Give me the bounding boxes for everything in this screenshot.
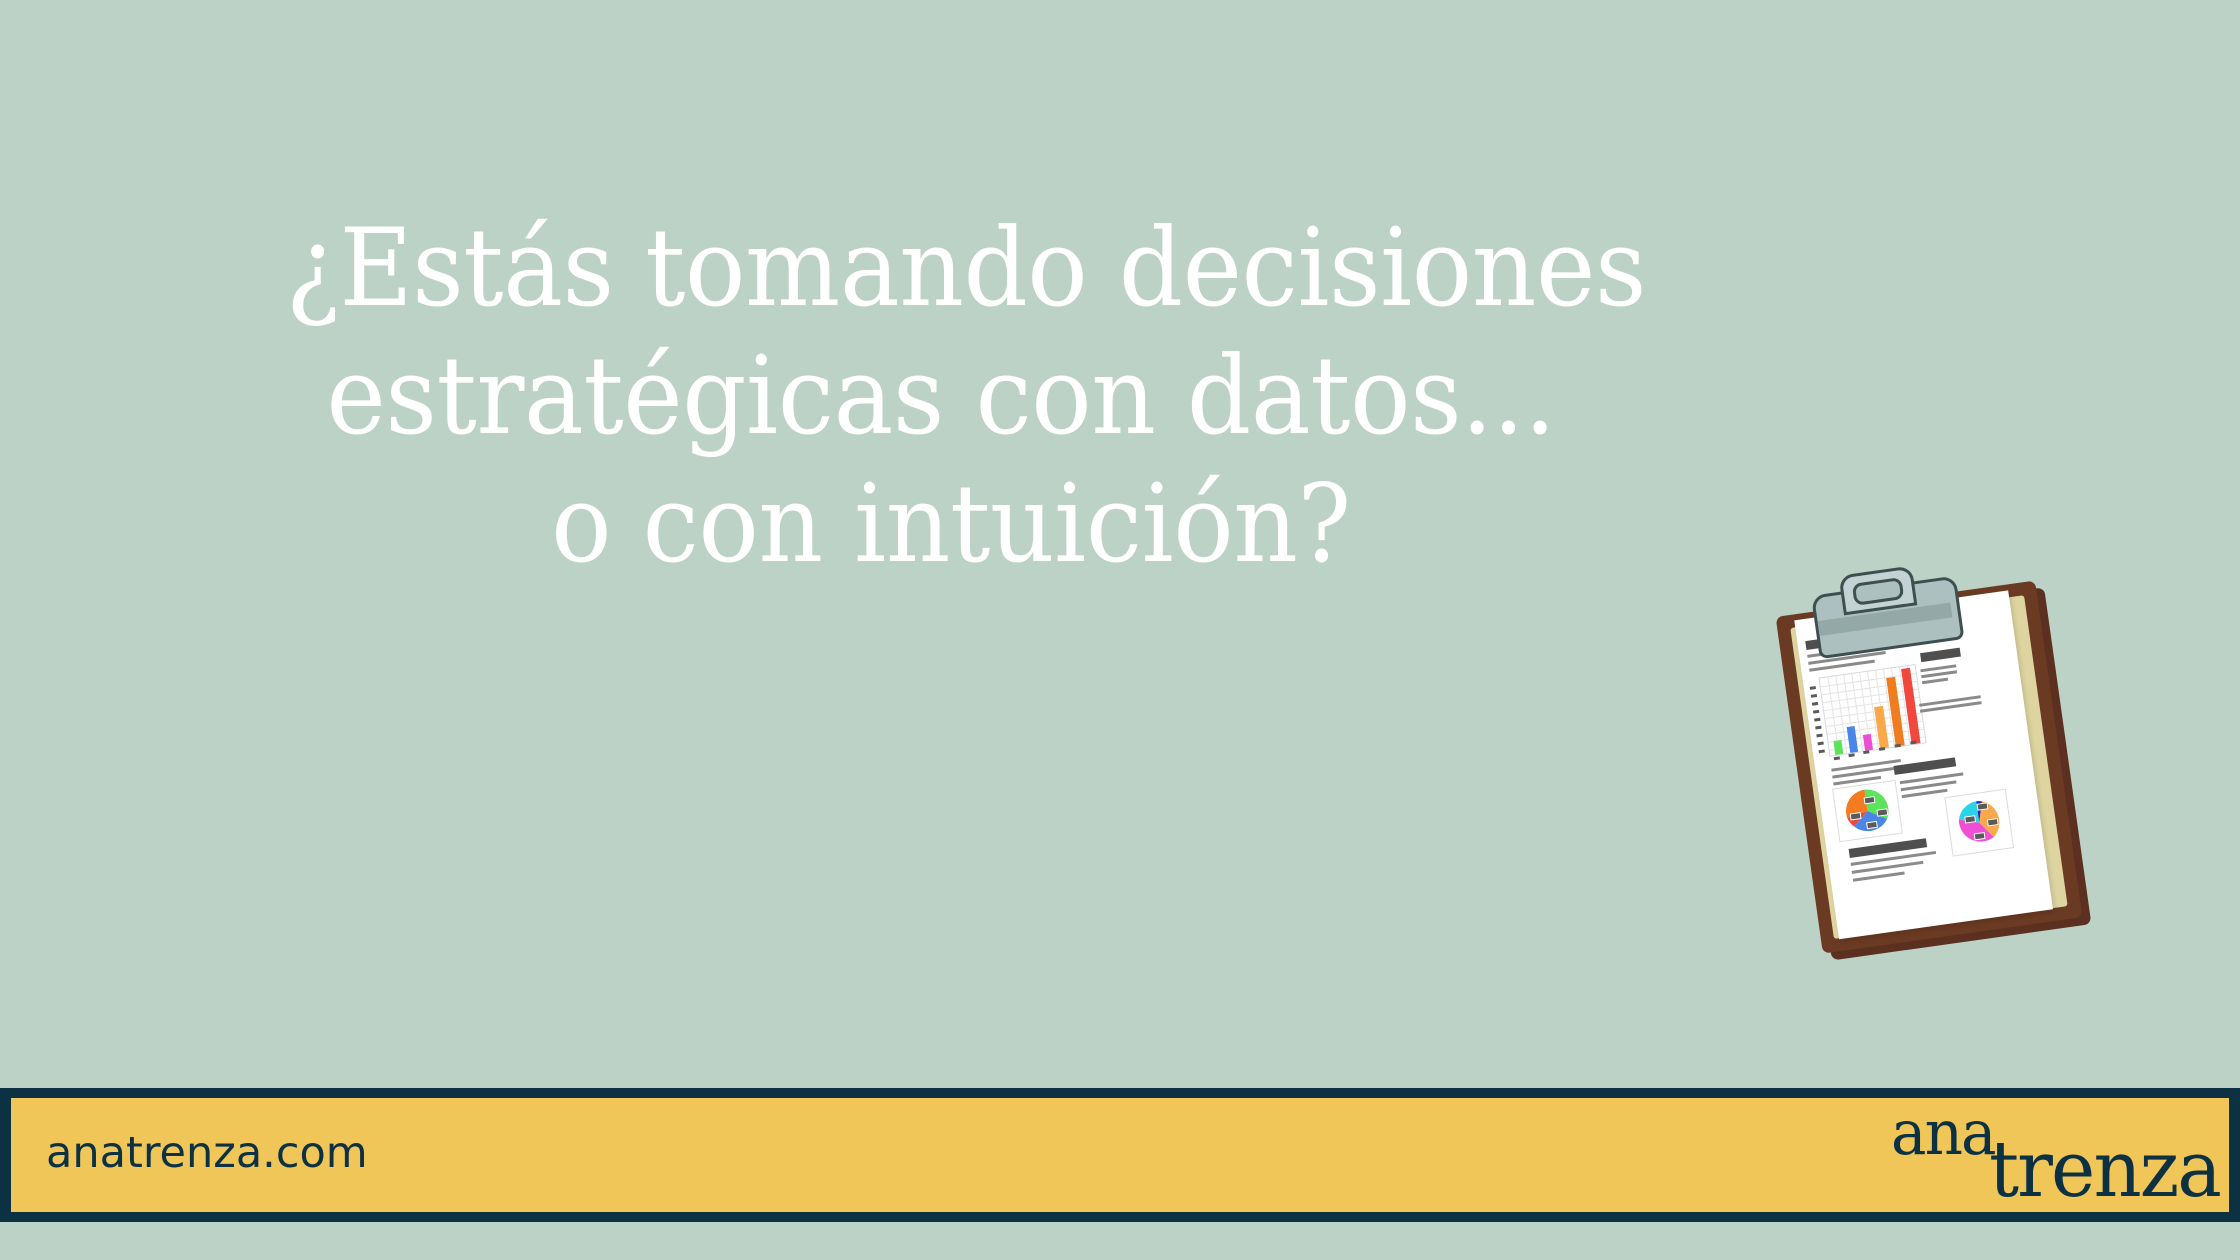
paper-text-line	[1922, 678, 1948, 685]
x-axis-tick	[1848, 753, 1854, 757]
clipboard-illustration	[1772, 570, 2132, 990]
page-title: ¿Estás tomando decisiones estratégicas c…	[150, 205, 1790, 589]
slide-canvas: ¿Estás tomando decisiones estratégicas c…	[0, 0, 2240, 1260]
x-axis-tick	[1863, 750, 1869, 754]
y-axis-tick	[1819, 749, 1825, 753]
paper-heading-bar	[1920, 648, 1961, 662]
bar-1	[1833, 740, 1843, 755]
logo-text-trenza: trenza	[1989, 1131, 2220, 1209]
y-axis-tick	[1812, 702, 1818, 706]
y-axis-tick	[1815, 726, 1821, 730]
headline-line-3: o con intuición?	[171, 461, 1732, 589]
headline-line-2: estratégicas con datos...	[151, 333, 1730, 461]
y-axis-tick	[1816, 734, 1822, 738]
bar-chart	[1809, 664, 1928, 764]
logo-text-ana: ana	[1891, 1102, 1995, 1164]
y-axis-tick	[1813, 710, 1819, 714]
y-axis-tick	[1811, 694, 1817, 698]
pie-2-label	[1987, 818, 1999, 826]
x-axis-tick	[1895, 744, 1901, 748]
paper-text-line	[1902, 789, 1948, 798]
website-url[interactable]: anatrenza.com	[46, 1128, 368, 1178]
pie-chart-2	[1944, 789, 2014, 857]
paper-text-line	[1853, 872, 1905, 882]
footer-bar: anatrenza.com ana trenza	[0, 1088, 2240, 1222]
x-axis-tick	[1834, 756, 1840, 760]
footer-band: anatrenza.com ana trenza	[11, 1098, 2229, 1212]
pie-1-label	[1850, 812, 1862, 820]
y-axis-tick	[1814, 718, 1820, 722]
brand-logo[interactable]: ana trenza	[1891, 1098, 2221, 1212]
paper-heading-bar	[1893, 757, 1956, 775]
pie-chart-1	[1832, 780, 1903, 842]
y-axis-tick	[1810, 686, 1816, 690]
pie-1-label	[1864, 796, 1876, 804]
x-axis-tick	[1879, 747, 1885, 751]
headline-line-1: ¿Estás tomando decisiones	[200, 205, 1733, 333]
pie-2-label	[1974, 832, 1986, 840]
y-axis-tick	[1817, 742, 1823, 746]
